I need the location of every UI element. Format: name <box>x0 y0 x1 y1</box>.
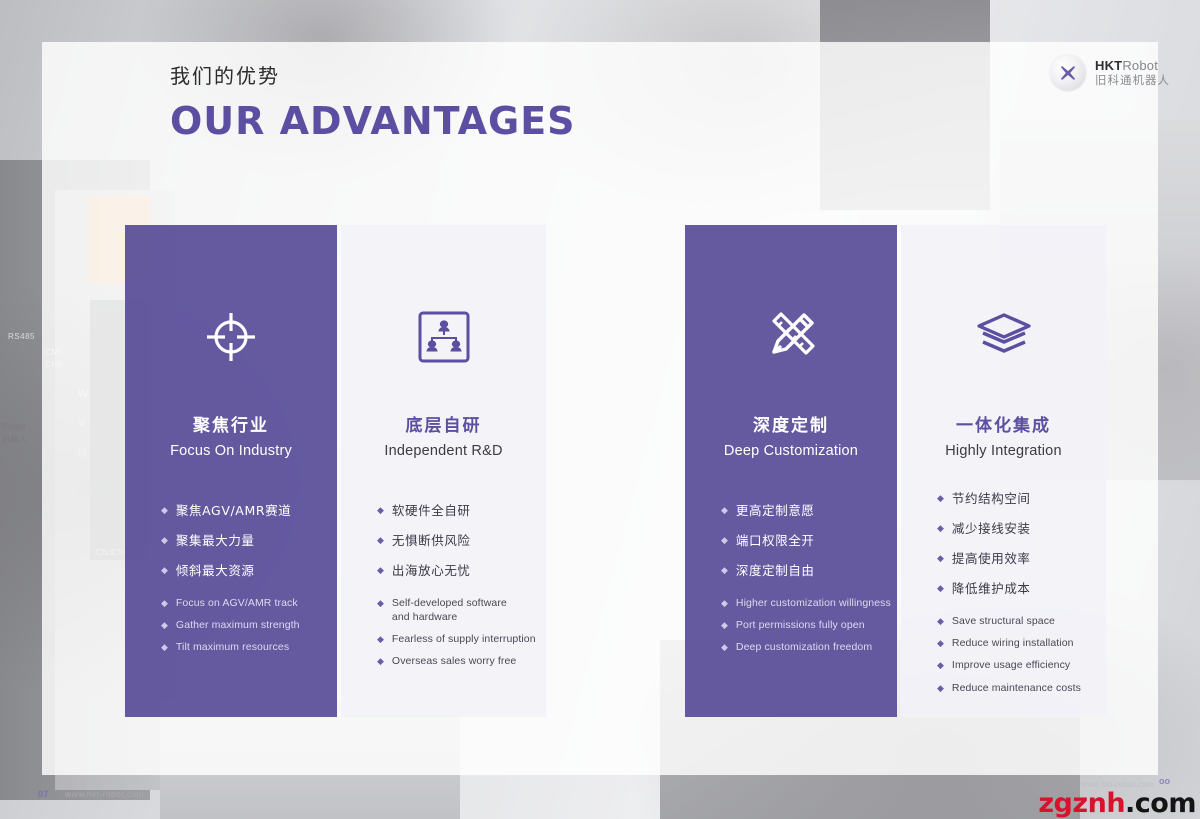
bullet-item: ◆无惧断供风险 <box>377 533 546 550</box>
diamond-bullet-icon: ◆ <box>937 491 944 505</box>
site-watermark: zgznh.com <box>1038 790 1196 817</box>
bullet-text-en: Reduce wiring installation <box>952 636 1074 650</box>
watermark-text-red: zgznh <box>1038 788 1125 819</box>
diamond-bullet-icon: ◆ <box>721 533 728 547</box>
advantage-card-focus-on-industry[interactable]: 聚焦行业 Focus On Industry ◆聚焦AGV/AMR赛道 ◆聚集最… <box>125 225 337 717</box>
bullet-text-en: Overseas sales worry free <box>392 654 516 668</box>
bullet-item: ◆节约结构空间 <box>937 491 1106 508</box>
card-title-cn: 底层自研 <box>406 411 482 436</box>
bullet-text-en: Focus on AGV/AMR track <box>176 596 298 610</box>
bullet-text-cn: 倾斜最大资源 <box>176 563 255 580</box>
advantage-card-highly-integration[interactable]: 一体化集成 Highly Integration ◆节约结构空间 ◆减少接线安装… <box>901 225 1106 717</box>
card-bullets: ◆软硬件全自研 ◆无惧断供风险 ◆出海放心无忧 ◆Self-developed … <box>341 503 546 677</box>
bullet-item: ◆Focus on AGV/AMR track <box>161 596 337 610</box>
bullet-item: ◆端口权限全开 <box>721 533 897 550</box>
bullet-item: ◆Save structural space <box>937 614 1106 628</box>
card-bullets: ◆聚焦AGV/AMR赛道 ◆聚集最大力量 ◆倾斜最大资源 ◆Focus on A… <box>125 503 337 663</box>
diamond-bullet-icon: ◆ <box>161 563 168 577</box>
bullet-text-en: Improve usage efficiency <box>952 658 1070 672</box>
card-bullets-en: ◆Higher customization willingness ◆Port … <box>721 596 897 655</box>
diamond-bullet-icon: ◆ <box>721 563 728 577</box>
diamond-bullet-icon: ◆ <box>377 503 384 517</box>
bullet-item: ◆出海放心无忧 <box>377 563 546 580</box>
diamond-bullet-icon: ◆ <box>721 618 728 632</box>
bullet-text-cn: 深度定制自由 <box>736 563 815 580</box>
diamond-bullet-icon: ◆ <box>161 533 168 547</box>
bullet-item: ◆聚焦AGV/AMR赛道 <box>161 503 337 520</box>
diamond-bullet-icon: ◆ <box>721 640 728 654</box>
bullet-text-en: Deep customization freedom <box>736 640 872 654</box>
brand-name-en: HKTRobot <box>1095 59 1170 74</box>
advantage-card-independent-rd[interactable]: 底层自研 Independent R&D ◆软硬件全自研 ◆无惧断供风险 ◆出海… <box>341 225 546 717</box>
bullet-item: ◆深度定制自由 <box>721 563 897 580</box>
bullet-item: ◆Higher customization willingness <box>721 596 897 610</box>
bullet-text-cn: 减少接线安装 <box>952 521 1031 538</box>
bullet-text-en: Reduce maintenance costs <box>952 681 1081 695</box>
card-bullets-en: ◆Self-developed software and hardware ◆F… <box>377 596 546 669</box>
diamond-bullet-icon: ◆ <box>937 551 944 565</box>
diamond-bullet-icon: ◆ <box>937 614 944 628</box>
crosshair-target-icon <box>203 277 259 397</box>
diamond-bullet-icon: ◆ <box>377 632 384 646</box>
brand-name-light: Robot <box>1122 58 1158 73</box>
brand-name-cn: 旧科通机器人 <box>1095 74 1170 87</box>
watermark-ghost-mark: oo <box>1159 776 1170 786</box>
diamond-bullet-icon: ◆ <box>377 533 384 547</box>
bullet-item: ◆降低维护成本 <box>937 581 1106 598</box>
bullet-item: ◆减少接线安装 <box>937 521 1106 538</box>
diamond-bullet-icon: ◆ <box>937 636 944 650</box>
page-title: OUR ADVANTAGES <box>170 99 576 143</box>
bullet-item: ◆软硬件全自研 <box>377 503 546 520</box>
stacked-layers-icon <box>975 277 1033 397</box>
diamond-bullet-icon: ◆ <box>721 503 728 517</box>
bullet-item: ◆Improve usage efficiency <box>937 658 1106 672</box>
bullet-item: ◆Self-developed software and hardware <box>377 596 546 624</box>
bullet-item: ◆Deep customization freedom <box>721 640 897 654</box>
diamond-bullet-icon: ◆ <box>937 521 944 535</box>
diamond-bullet-icon: ◆ <box>377 654 384 668</box>
bullet-item: ◆Overseas sales worry free <box>377 654 546 668</box>
bullet-text-cn: 更高定制意愿 <box>736 503 815 520</box>
advantage-card-deep-customization[interactable]: 深度定制 Deep Customization ◆更高定制意愿 ◆端口权限全开 … <box>685 225 897 717</box>
card-title-cn: 聚焦行业 <box>193 411 269 436</box>
diamond-bullet-icon: ◆ <box>937 681 944 695</box>
card-title-en: Deep Customization <box>724 443 858 459</box>
bullet-text-cn: 端口权限全开 <box>736 533 815 550</box>
diamond-bullet-icon: ◆ <box>161 596 168 610</box>
card-bullets: ◆更高定制意愿 ◆端口权限全开 ◆深度定制自由 ◆Higher customiz… <box>685 503 897 663</box>
bullet-item: ◆聚集最大力量 <box>161 533 337 550</box>
advantage-cards: 聚焦行业 Focus On Industry ◆聚焦AGV/AMR赛道 ◆聚集最… <box>125 225 1080 717</box>
bullet-text-cn: 聚集最大力量 <box>176 533 255 550</box>
pencil-ruler-design-icon <box>762 277 820 397</box>
bullet-item: ◆Fearless of supply interruption <box>377 632 546 646</box>
page-footer: 07 www.hkt-robot.com <box>38 789 144 799</box>
bullet-item: ◆倾斜最大资源 <box>161 563 337 580</box>
hkt-x-mark-icon <box>1050 55 1086 91</box>
diamond-bullet-icon: ◆ <box>161 503 168 517</box>
page-kicker-cn: 我们的优势 <box>170 60 576 89</box>
page-number: 07 <box>38 789 49 799</box>
brand-logo-text: HKTRobot 旧科通机器人 <box>1095 59 1170 87</box>
footer-website: www.hkt-robot.com <box>65 789 144 799</box>
diamond-bullet-icon: ◆ <box>937 658 944 672</box>
org-chart-team-icon <box>418 277 470 397</box>
watermark-text-black: .com <box>1125 788 1196 819</box>
bullet-text-cn: 出海放心无忧 <box>392 563 471 580</box>
bullet-text-en: Gather maximum strength <box>176 618 300 632</box>
card-title-en: Independent R&D <box>384 443 502 459</box>
bullet-text-en: Self-developed software and hardware <box>392 596 546 624</box>
diamond-bullet-icon: ◆ <box>161 618 168 632</box>
bullet-item: ◆Port permissions fully open <box>721 618 897 632</box>
bullet-text-cn: 聚焦AGV/AMR赛道 <box>176 503 291 520</box>
card-title-en: Highly Integration <box>945 443 1061 459</box>
diamond-bullet-icon: ◆ <box>377 596 384 610</box>
card-bullets: ◆节约结构空间 ◆减少接线安装 ◆提高使用效率 ◆降低维护成本 ◆Save st… <box>901 491 1106 703</box>
bullet-text-cn: 软硬件全自研 <box>392 503 471 520</box>
bullet-text-cn: 提高使用效率 <box>952 551 1031 568</box>
card-title-cn: 深度定制 <box>753 411 829 436</box>
bullet-text-en: Save structural space <box>952 614 1055 628</box>
diamond-bullet-icon: ◆ <box>721 596 728 610</box>
diamond-bullet-icon: ◆ <box>161 640 168 654</box>
bullet-item: ◆提高使用效率 <box>937 551 1106 568</box>
bullet-text-en: Fearless of supply interruption <box>392 632 536 646</box>
bullet-item: ◆Gather maximum strength <box>161 618 337 632</box>
diamond-bullet-icon: ◆ <box>377 563 384 577</box>
bullet-text-cn: 降低维护成本 <box>952 581 1031 598</box>
card-title-cn: 一体化集成 <box>956 411 1051 436</box>
bullet-text-en: Port permissions fully open <box>736 618 865 632</box>
bullet-item: ◆Tilt maximum resources <box>161 640 337 654</box>
bullet-text-cn: 节约结构空间 <box>952 491 1031 508</box>
bullet-text-en: Tilt maximum resources <box>176 640 289 654</box>
card-title-en: Focus On Industry <box>170 443 292 459</box>
bullet-text-en: Higher customization willingness <box>736 596 891 610</box>
bullet-item: ◆更高定制意愿 <box>721 503 897 520</box>
bullet-item: ◆Reduce wiring installation <box>937 636 1106 650</box>
brand-name-bold: HKT <box>1095 58 1122 73</box>
bullet-text-cn: 无惧断供风险 <box>392 533 471 550</box>
diamond-bullet-icon: ◆ <box>937 581 944 595</box>
card-bullets-en: ◆Focus on AGV/AMR track ◆Gather maximum … <box>161 596 337 655</box>
brand-logo: HKTRobot 旧科通机器人 <box>1050 55 1170 91</box>
page-header: 我们的优势 OUR ADVANTAGES <box>170 60 576 143</box>
card-bullets-en: ◆Save structural space ◆Reduce wiring in… <box>937 614 1106 696</box>
bullet-item: ◆Reduce maintenance costs <box>937 681 1106 695</box>
